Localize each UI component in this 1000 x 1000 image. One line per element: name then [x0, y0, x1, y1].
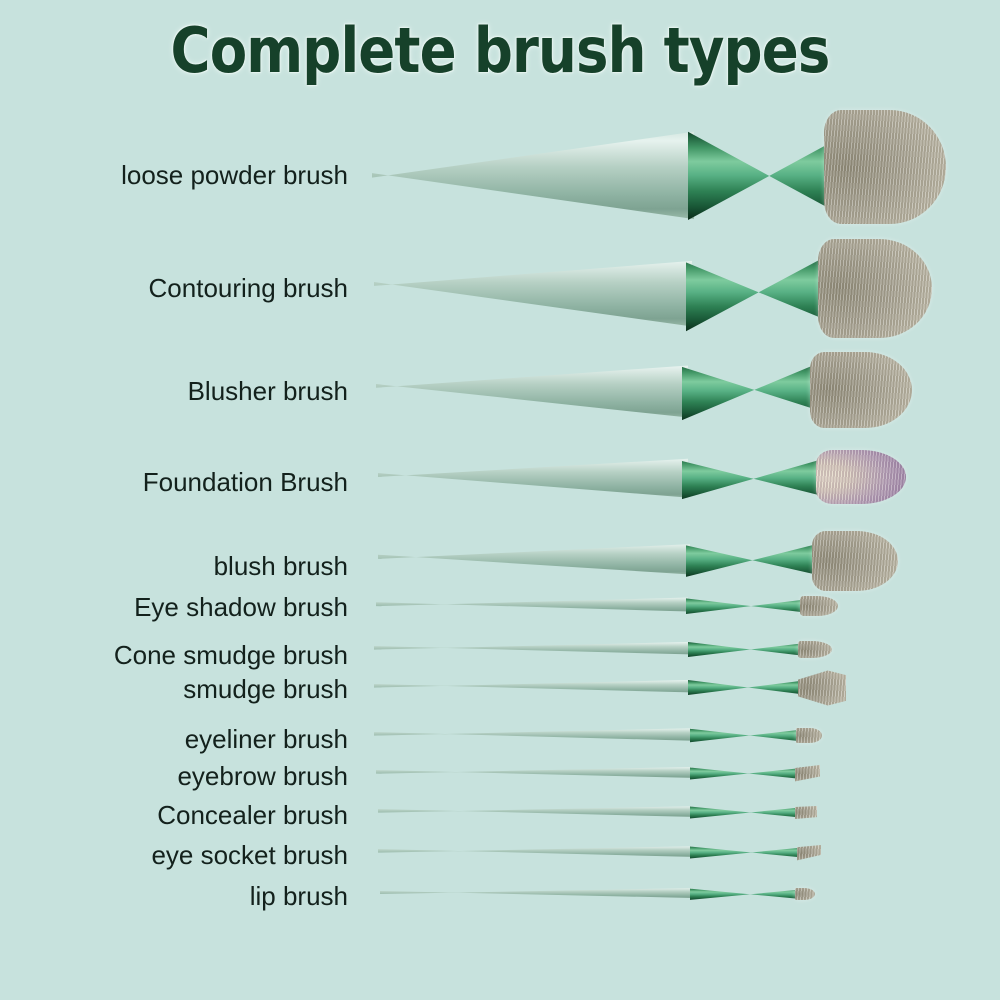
brush-label-concealer: Concealer brush: [157, 802, 348, 828]
brush-label-blush: blush brush: [214, 553, 348, 579]
brush-label-cone-smudge: Cone smudge brush: [114, 642, 348, 668]
brush-label-eye-socket: eye socket brush: [151, 842, 348, 868]
brush-handle: [372, 128, 694, 220]
brush-ferrule: [682, 360, 820, 422]
brush-handle: [380, 886, 692, 899]
brush-ferrule: [682, 455, 824, 501]
brush-bristles: [795, 806, 817, 819]
brush-handle: [374, 726, 692, 742]
brush-bristles: [796, 728, 822, 743]
brush-label-lip: lip brush: [250, 883, 348, 909]
brush-handle: [376, 358, 688, 420]
brush-handle: [376, 595, 688, 613]
brush-label-eyebrow: eyebrow brush: [177, 763, 348, 789]
brush-handle: [378, 538, 690, 576]
brush-handle: [378, 844, 692, 858]
brush-bristles: [798, 641, 832, 658]
brush-bristles: [795, 888, 815, 900]
brush-handle: [378, 804, 692, 818]
brush-bristles: [816, 450, 906, 504]
brush-handle: [376, 765, 692, 779]
brush-ferrule: [688, 679, 800, 696]
brush-label-loose-powder: loose powder brush: [121, 162, 348, 188]
brush-ferrule: [690, 727, 800, 744]
brush-bristles: [795, 765, 820, 782]
product-infographic: Complete brush types loose powder brush …: [0, 0, 1000, 1000]
brush-handle: [374, 640, 690, 656]
brush-bristles: [797, 845, 821, 861]
brush-bristles: [810, 352, 912, 428]
brush-label-contouring: Contouring brush: [149, 275, 348, 301]
page-title: Complete brush types: [60, 16, 940, 86]
brush-label-blusher: Blusher brush: [188, 378, 348, 404]
brush-handle: [374, 250, 692, 328]
brush-bristles: [798, 669, 846, 707]
brush-label-smudge: smudge brush: [183, 676, 348, 702]
brush-ferrule: [690, 887, 798, 901]
brush-bristles: [812, 531, 898, 591]
brush-ferrule: [686, 540, 818, 578]
brush-label-foundation: Foundation Brush: [143, 469, 348, 495]
brush-ferrule: [688, 130, 834, 220]
brush-bristles: [824, 110, 946, 224]
brush-ferrule: [686, 596, 804, 616]
brush-label-eye-shadow: Eye shadow brush: [134, 594, 348, 620]
brush-handle: [374, 678, 690, 694]
brush-handle: [378, 452, 688, 500]
brush-ferrule: [690, 805, 798, 820]
brush-ferrule: [690, 766, 798, 781]
brush-label-eyeliner: eyeliner brush: [185, 726, 348, 752]
brush-bristles: [800, 596, 838, 616]
brush-ferrule: [686, 252, 828, 332]
brush-bristles: [818, 239, 932, 338]
brush-ferrule: [690, 845, 800, 860]
brush-ferrule: [688, 641, 802, 658]
